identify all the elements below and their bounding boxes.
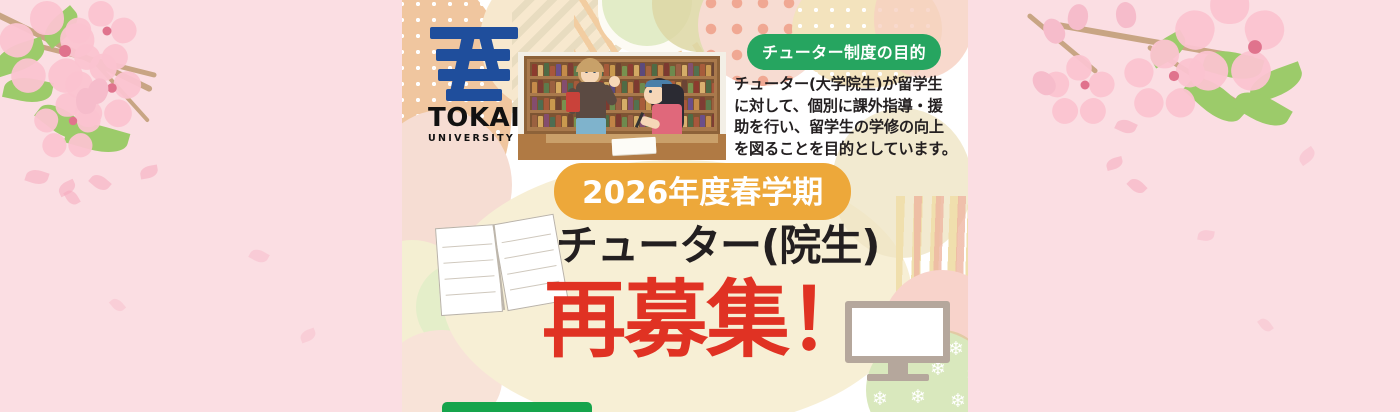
tutor-figure <box>564 58 620 144</box>
page-title: チューター(院生) <box>556 212 879 273</box>
poster-panel: ❄❄ ❄❄ ❄❄ ❄❄ ❄❄ ❄❄ TOKAI UNIVERSITY <box>402 0 968 412</box>
call-to-action-text: 再募集！ <box>542 278 870 362</box>
sakura-blossom-icon <box>1066 66 1104 104</box>
purpose-line: に対して、個別に課外指導・援 <box>734 96 954 118</box>
sakura-blossom-icon <box>1150 52 1198 100</box>
sakura-blossom-icon <box>1210 2 1300 92</box>
poster-banner: ❄❄ ❄❄ ❄❄ ❄❄ ❄❄ ❄❄ TOKAI UNIVERSITY <box>0 0 1400 412</box>
library-tutoring-illustration <box>518 52 726 160</box>
logo-wordmark: TOKAI <box>428 105 532 131</box>
sakura-blossom-icon <box>88 12 126 50</box>
purpose-line: チューター(大学院生)が留学生 <box>734 74 954 96</box>
purpose-line: を図ることを目的としています。 <box>734 139 954 161</box>
purpose-line: 助を行い、留学生の学修の向上 <box>734 117 954 139</box>
bottom-green-bar <box>442 402 592 412</box>
purpose-body-text: チューター(大学院生)が留学生 に対して、個別に課外指導・援 助を行い、留学生の… <box>734 74 954 160</box>
tokai-logo-mark <box>428 25 524 103</box>
sakura-decoration-left <box>0 0 402 412</box>
logo-subtitle: UNIVERSITY <box>428 133 532 144</box>
sakura-decoration-right <box>998 0 1400 412</box>
tokai-university-logo: TOKAI UNIVERSITY <box>428 25 532 144</box>
purpose-badge: チューター制度の目的 <box>747 34 941 70</box>
